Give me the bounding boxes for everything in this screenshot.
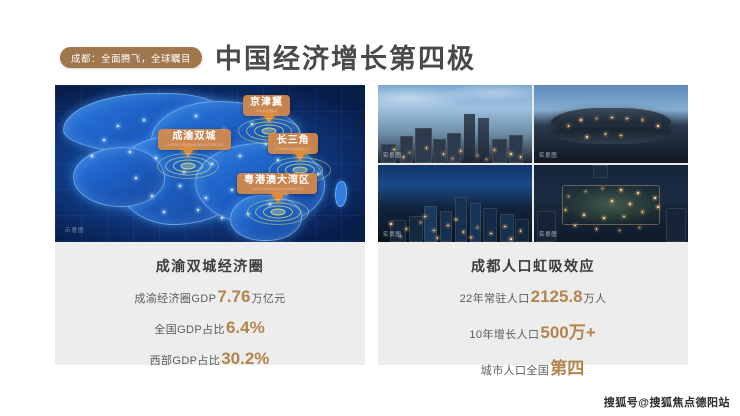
left-stat-row: 西部GDP占比 30.2% xyxy=(150,349,271,369)
map-rings-greaterbay xyxy=(246,199,310,225)
left-stat-row: 全国GDP占比 6.4% xyxy=(154,318,265,338)
economic-circle-map: 京津冀 JINGJINJI 成渝双城 CHENGYUSHUANGCHENG xyxy=(55,85,365,242)
right-stat-row: 22年常驻人口 2125.8 万人 xyxy=(460,287,607,307)
footer-watermark-text: 搜狐号@搜狐焦点德阳站 xyxy=(604,394,730,410)
map-label-cn: 京津冀 xyxy=(250,97,283,108)
stat-value: 第四 xyxy=(550,354,584,379)
right-card-title: 成都人口虹吸效应 xyxy=(471,256,595,276)
page-title: 中国经济增长第四极 xyxy=(215,38,476,80)
stat-suffix: 万人 xyxy=(584,290,607,306)
header-badge: 成都：全面腾飞，全球瞩目 xyxy=(60,47,202,68)
left-card-title: 成渝双城经济圈 xyxy=(156,256,265,276)
map-label-cn: 成渝双城 xyxy=(165,131,224,142)
china-map-graphic: 京津冀 JINGJINJI 成渝双城 CHENGYUSHUANGCHENG xyxy=(55,85,365,242)
map-label-cn: 粤港澳大湾区 xyxy=(244,175,310,186)
stat-prefix: 10年增长人口 xyxy=(469,326,539,342)
slide-root: 成都：全面腾飞，全球瞩目 中国经济增长第四极 xyxy=(0,0,740,416)
stat-prefix: 西部GDP占比 xyxy=(150,352,221,368)
map-label-greaterbay: 粤港澳大湾区 YUEGANGAODAWANQU xyxy=(237,173,317,194)
photo-watermark: 实景图 xyxy=(383,151,401,159)
photo-chengdu-twin-towers: 实景图 xyxy=(378,85,532,163)
stat-value: 6.4% xyxy=(226,318,265,338)
photo-chengdu-sky-wing: 实景图 xyxy=(534,85,688,163)
footer-watermark: 搜狐号@搜狐焦点德阳站 xyxy=(604,394,730,410)
left-card-body: 成渝双城经济圈 成渝经济圈GDP 7.76 万亿元 全国GDP占比 6.4% 西… xyxy=(55,242,365,365)
right-stat-row: 10年增长人口 500万+ xyxy=(469,318,596,343)
stat-prefix: 全国GDP占比 xyxy=(154,321,225,337)
stat-prefix: 成渝经济圈GDP xyxy=(134,290,216,306)
map-label-cn: 长三角 xyxy=(275,135,311,146)
photo-watermark: 实景图 xyxy=(539,230,557,238)
stat-value: 2125.8 xyxy=(531,287,583,307)
stat-suffix: 万亿元 xyxy=(251,290,285,306)
photo-watermark: 实景图 xyxy=(383,230,401,238)
left-stat-row: 成渝经济圈GDP 7.76 万亿元 xyxy=(134,287,285,307)
map-watermark: 示意图 xyxy=(65,226,85,234)
map-label-py: YUEGANGAODAWANQU xyxy=(244,186,310,191)
stat-prefix: 22年常驻人口 xyxy=(460,290,530,306)
slide-header: 成都：全面腾飞，全球瞩目 中国经济增长第四极 xyxy=(0,38,740,80)
chengdu-photo-grid: 实景图 实景图 xyxy=(378,85,688,242)
right-card-body: 成都人口虹吸效应 22年常驻人口 2125.8 万人 10年增长人口 500万+… xyxy=(378,242,688,365)
right-stat-row: 城市人口全国 第四 xyxy=(481,354,585,379)
left-panel: 京津冀 JINGJINJI 成渝双城 CHENGYUSHUANGCHENG xyxy=(55,85,365,365)
photo-chengdu-night-skyline: 实景图 xyxy=(378,165,532,243)
map-rings-chengyu xyxy=(156,153,220,179)
stat-value: 500万+ xyxy=(540,318,595,343)
stat-value: 30.2% xyxy=(221,349,269,369)
stat-value: 7.76 xyxy=(217,287,250,307)
photo-watermark: 实景图 xyxy=(539,151,557,159)
stat-prefix: 城市人口全国 xyxy=(481,362,549,378)
photo-tianfu-square-aerial: 实景图 xyxy=(534,165,688,243)
right-panel: 实景图 实景图 xyxy=(378,85,688,365)
